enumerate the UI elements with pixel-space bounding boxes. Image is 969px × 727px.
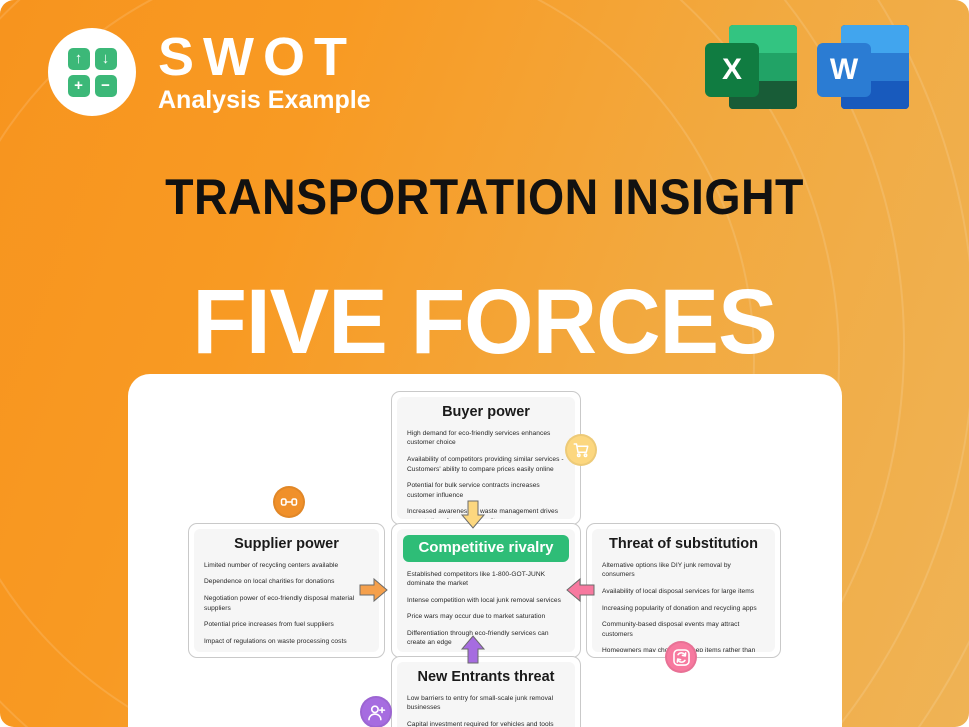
force-title-buyer: Buyer power	[407, 405, 565, 421]
diagram-card: Buyer power High demand for eco-friendly…	[128, 374, 842, 727]
slide-canvas: ↑ ↓ + − SWOT Analysis Example X W TRANSP…	[0, 0, 969, 727]
force-title-supplier: Supplier power	[204, 537, 369, 553]
force-box-substitution[interactable]: Threat of substitution Alternative optio…	[586, 523, 781, 658]
arrow-down-icon: ↓	[95, 48, 117, 70]
list-item: Established competitors like 1-800-GOT-J…	[407, 570, 565, 589]
list-item: High demand for eco-friendly services en…	[407, 429, 565, 448]
plus-icon: +	[68, 75, 90, 97]
list-item: Community-based disposal events may attr…	[602, 620, 765, 639]
word-icon-letter: W	[817, 43, 871, 97]
list-item: Price wars may occur due to market satur…	[407, 612, 565, 622]
swot-logo: ↑ ↓ + − SWOT Analysis Example	[48, 28, 371, 116]
list-item: Alternative options like DIY junk remova…	[602, 561, 765, 580]
force-title-competitive-rivalry: Competitive rivalry	[403, 535, 569, 562]
list-item: Low barriers to entry for small-scale ju…	[407, 694, 565, 713]
office-icon-group: X W	[705, 25, 909, 109]
list-item: Availability of local disposal services …	[602, 587, 765, 597]
list-item: Capital investment required for vehicles…	[407, 720, 565, 727]
minus-icon: −	[95, 75, 117, 97]
page-subtitle: TRANSPORTATION INSIGHT	[34, 168, 935, 226]
list-item: Availability of competitors providing si…	[407, 455, 565, 474]
list-item: Impact of regulations on waste processin…	[204, 637, 369, 647]
list-item: Potential price increases from fuel supp…	[204, 620, 369, 630]
force-list-supplier: Limited number of recycling centers avai…	[204, 561, 369, 646]
swot-quadrant-icon: ↑ ↓ + −	[48, 28, 136, 116]
list-item: Limited number of recycling centers avai…	[204, 561, 369, 571]
force-box-supplier[interactable]: Supplier power Limited number of recycli…	[188, 523, 385, 658]
excel-icon[interactable]: X	[705, 25, 797, 109]
excel-icon-letter: X	[705, 43, 759, 97]
force-box-new-entrants[interactable]: New Entrants threat Low barriers to entr…	[391, 656, 581, 727]
list-item: Potential for bulk service contracts inc…	[407, 481, 565, 500]
list-item: Dependence on local charities for donati…	[204, 577, 369, 587]
add-person-icon	[360, 696, 392, 727]
force-list-new-entrants: Low barriers to entry for small-scale ju…	[407, 694, 565, 727]
logo-title: SWOT	[158, 30, 371, 84]
five-forces-diagram: Buyer power High demand for eco-friendly…	[128, 374, 842, 727]
force-title-substitution: Threat of substitution	[602, 537, 765, 553]
word-icon[interactable]: W	[817, 25, 909, 109]
list-item: Intense competition with local junk remo…	[407, 596, 565, 606]
list-item: Increasing popularity of donation and re…	[602, 604, 765, 614]
force-title-new-entrants: New Entrants threat	[407, 670, 565, 686]
handshake-icon	[273, 486, 305, 518]
recycle-refresh-icon	[665, 641, 697, 673]
logo-subtitle: Analysis Example	[158, 86, 371, 115]
force-list-substitution: Alternative options like DIY junk remova…	[602, 561, 765, 652]
page-title: FIVE FORCES	[15, 270, 955, 375]
shopping-cart-icon	[565, 434, 597, 466]
list-item: Negotiation power of eco-friendly dispos…	[204, 594, 369, 613]
arrow-up-icon: ↑	[68, 48, 90, 70]
